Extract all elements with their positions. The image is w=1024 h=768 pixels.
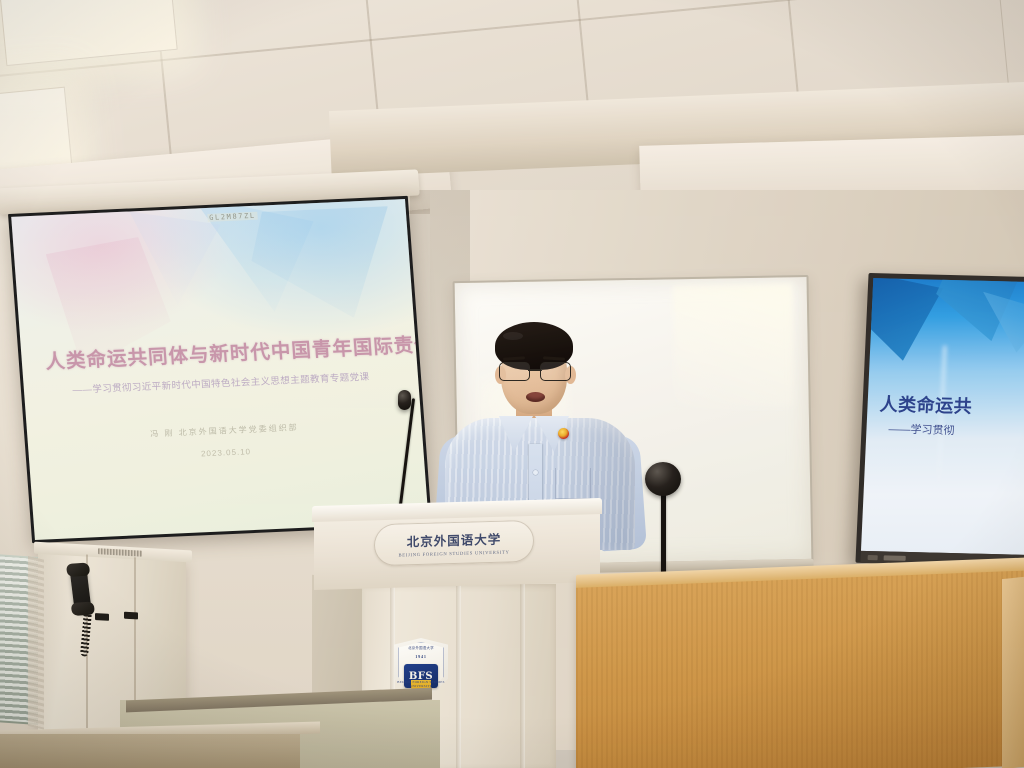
desk-side-edge bbox=[1002, 577, 1024, 768]
floor-microphone-head bbox=[645, 462, 681, 496]
monitor-slide-title: 人类命运共 bbox=[879, 390, 973, 418]
wooden-desk bbox=[576, 565, 1024, 768]
podium-nameplate: 北京外国语大学 BEIJING FOREIGN STUDIES UNIVERSI… bbox=[374, 520, 534, 566]
crest-year: 1941 bbox=[394, 654, 448, 659]
foreground-floor bbox=[0, 734, 300, 768]
podium-microphone-head bbox=[398, 390, 411, 410]
wall-telephone-handset-icon bbox=[69, 566, 91, 613]
party-emblem-pin-icon bbox=[558, 428, 569, 439]
telephone-cord bbox=[80, 610, 92, 657]
crest-top-text: 北京外国语大学 bbox=[394, 645, 448, 650]
lecture-hall-photo: GL2M87ZL 人类命运共同体与新时代中国青年国际责任 ——学习贯彻习近平新时… bbox=[0, 0, 1024, 768]
eyeglasses-icon bbox=[499, 362, 571, 379]
crest-bottom-text: BEIJING FOREIGN STUDIES UNIVERSITY bbox=[394, 680, 448, 688]
monitor-port bbox=[884, 555, 906, 561]
shirt-pocket bbox=[555, 468, 591, 499]
side-display-monitor: 人类命运共 ——学习贯彻 bbox=[855, 273, 1024, 567]
slide-subtitle: ——学习贯彻习近平新时代中国特色社会主义思想主题教育专题党课 bbox=[47, 367, 395, 397]
monitor-slide-subtitle: ——学习贯彻 bbox=[888, 420, 955, 438]
monitor-port bbox=[868, 555, 878, 560]
podium-nameplate-cn: 北京外国语大学 bbox=[407, 529, 502, 551]
podium-nameplate-en: BEIJING FOREIGN STUDIES UNIVERSITY bbox=[399, 549, 510, 557]
slide-date: 2023.05.10 bbox=[52, 440, 399, 465]
slide-presenter: 冯 刚 北京外国语大学党委组织部 bbox=[51, 417, 398, 444]
projection-screen: GL2M87ZL 人类命运共同体与新时代中国青年国际责任 ——学习贯彻习近平新时… bbox=[8, 196, 432, 543]
